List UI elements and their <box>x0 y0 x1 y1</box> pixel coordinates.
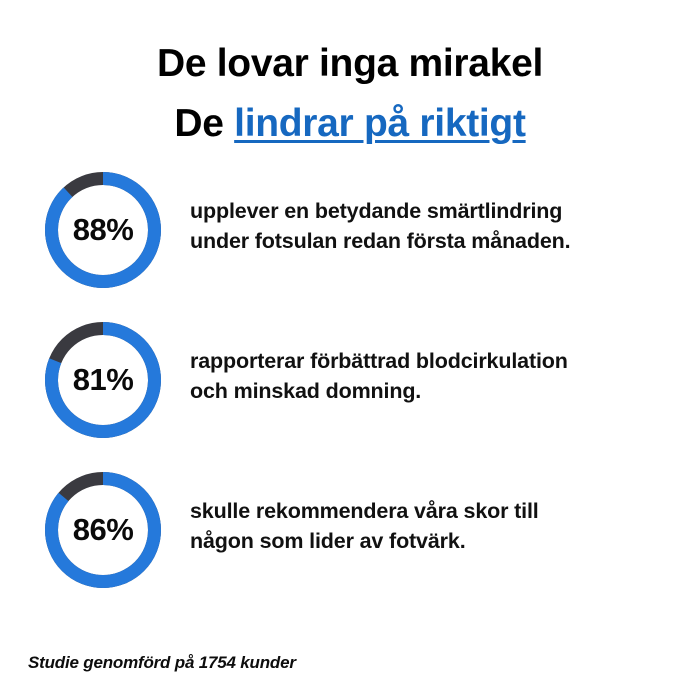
stat-description: skulle rekommendera våra skor till någon… <box>190 496 690 556</box>
stat-description-line-2: och minskad domning. <box>190 376 690 406</box>
stat-description-line-1: skulle rekommendera våra skor till <box>190 499 539 523</box>
stat-description-line-1: upplever en betydande smärtlindring <box>190 199 562 223</box>
donut-chart-81: 81% <box>45 322 161 438</box>
stat-description-line-2: under fotsulan redan första månaden. <box>190 226 690 256</box>
headline-line-2: De lindrar på riktigt <box>0 94 700 154</box>
stat-description-line-2: någon som lider av fotvärk. <box>190 526 690 556</box>
stat-description: rapporterar förbättrad blodcirkulation o… <box>190 346 690 406</box>
donut-percent-label: 86% <box>45 472 161 588</box>
page-title: De lovar inga mirakel De lindrar på rikt… <box>0 34 700 154</box>
headline-line-1: De lovar inga mirakel <box>0 34 700 94</box>
stat-row: 86% skulle rekommendera våra skor till n… <box>0 472 700 622</box>
stat-description-line-1: rapporterar förbättrad blodcirkulation <box>190 349 568 373</box>
donut-chart-88: 88% <box>45 172 161 288</box>
donut-percent-label: 81% <box>45 322 161 438</box>
study-footnote: Studie genomförd på 1754 kunder <box>28 653 296 673</box>
stat-description: upplever en betydande smärtlindring unde… <box>190 196 690 256</box>
donut-percent-label: 88% <box>45 172 161 288</box>
stats-list: 88% upplever en betydande smärtlindring … <box>0 172 700 622</box>
stat-row: 88% upplever en betydande smärtlindring … <box>0 172 700 322</box>
stat-row: 81% rapporterar förbättrad blodcirkulati… <box>0 322 700 472</box>
headline-line-2-prefix: De <box>174 102 234 145</box>
donut-chart-86: 86% <box>45 472 161 588</box>
headline-emphasis-link[interactable]: lindrar på riktigt <box>234 102 525 145</box>
